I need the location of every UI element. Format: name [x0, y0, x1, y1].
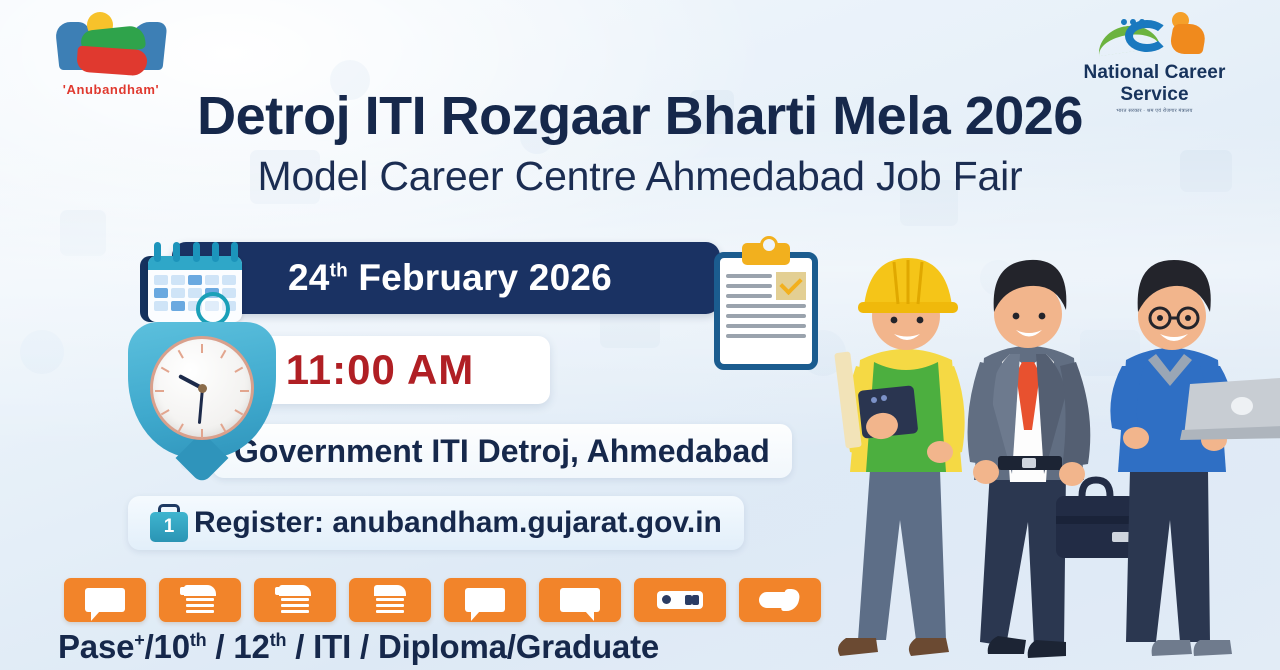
eligibility-part-6: / ITI / Diploma/Graduate — [286, 628, 659, 665]
date-badge: 24th February 2026 — [172, 242, 720, 314]
clock-face — [150, 336, 254, 440]
briefcase-badge-number: 1 — [150, 512, 188, 542]
businessman — [968, 260, 1136, 658]
megaphone-icon — [739, 578, 821, 622]
tech-professional — [1110, 260, 1280, 656]
clock-location-pin-icon — [128, 322, 276, 482]
register-badge[interactable]: 1 Register: anubandham.gujarat.gov.in — [128, 496, 744, 550]
anubandham-logo-icon — [51, 14, 171, 80]
venue-text: Government ITI Detroj, Ahmedabad — [234, 433, 770, 470]
eligibility-part-1: + — [134, 630, 144, 650]
briefcase-icon: 1 — [148, 504, 190, 544]
id-card-icon — [634, 578, 726, 622]
job-fair-poster: 'Anubandham' National Career Service भार… — [0, 0, 1280, 670]
document-list-icon — [159, 578, 241, 622]
register-label: Register: — [194, 506, 332, 539]
date-day: 24 — [288, 257, 330, 298]
date-ordinal: th — [330, 261, 348, 282]
construction-worker — [834, 258, 964, 656]
eligibility-text: Pase+/10th / 12th / ITI / Diploma/Gradua… — [58, 628, 659, 666]
document-list-icon — [349, 578, 431, 622]
date-text: 24th February 2026 — [288, 257, 612, 299]
page-title: Detroj ITI Rozgaar Bharti Mela 2026 — [0, 88, 1280, 145]
calendar-icon — [132, 232, 248, 328]
speech-bubble-icon — [444, 578, 526, 622]
people-illustration — [830, 220, 1280, 670]
national-career-service-logo-icon — [1095, 10, 1215, 60]
page-subtitle: Model Career Centre Ahmedabad Job Fair — [0, 153, 1280, 200]
venue-badge: Government ITI Detroj, Ahmedabad — [212, 424, 792, 478]
eligibility-part-2: /10 — [145, 628, 190, 665]
eligibility-part-4: / 12 — [206, 628, 269, 665]
register-text: Register: anubandham.gujarat.gov.in — [194, 506, 722, 540]
register-url[interactable]: anubandham.gujarat.gov.in — [332, 506, 721, 539]
eligibility-part-0: Pase — [58, 628, 134, 665]
document-list-icon — [254, 578, 336, 622]
date-rest: February 2026 — [348, 257, 612, 298]
eligibility-part-3: th — [190, 630, 207, 650]
eligibility-part-5: th — [270, 630, 287, 650]
title-block: Detroj ITI Rozgaar Bharti Mela 2026 Mode… — [0, 88, 1280, 200]
time-text: 11:00 AM — [286, 346, 475, 394]
speech-bubble-icon — [64, 578, 146, 622]
speech-bubble-icon — [539, 578, 621, 622]
register-row: 1 Register: anubandham.gujarat.gov.in — [62, 496, 882, 558]
clipboard-checklist-icon — [714, 252, 818, 370]
icon-strip — [64, 578, 821, 622]
